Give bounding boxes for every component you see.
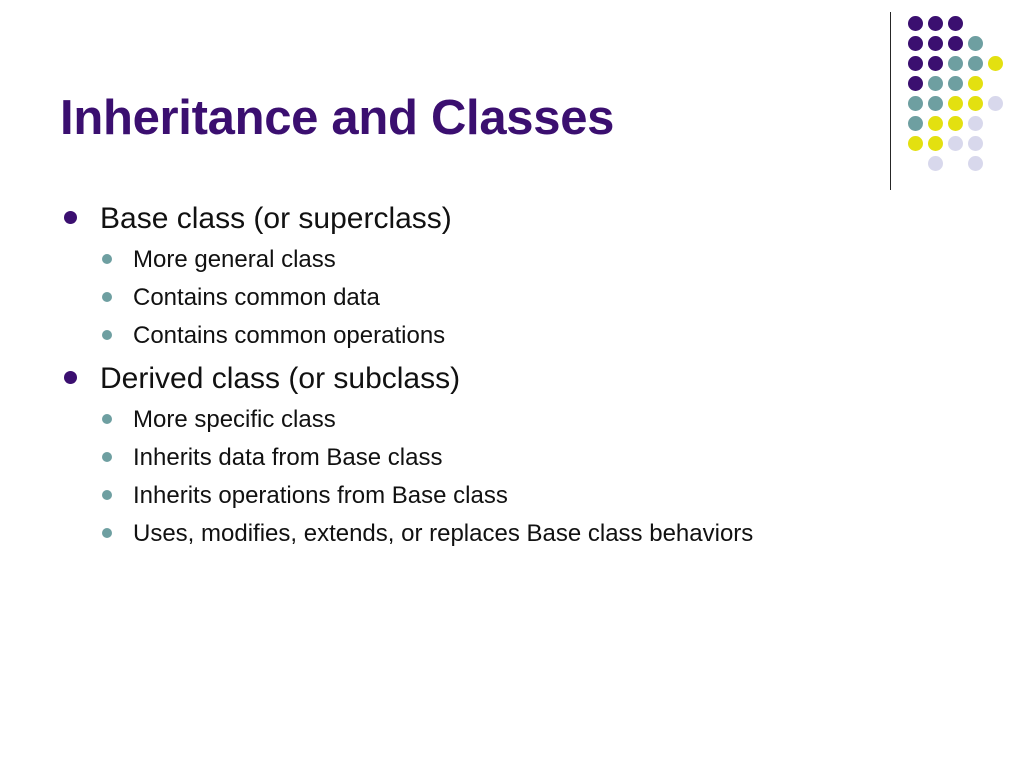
- deco-dot-yellow: [928, 116, 943, 131]
- deco-dot-teal: [948, 76, 963, 91]
- outline-body: Base class (or superclass)More general c…: [56, 196, 986, 554]
- deco-dot-purple: [908, 76, 923, 91]
- deco-dot-purple: [928, 56, 943, 71]
- bullet-row-level-2: More general class: [56, 242, 986, 278]
- deco-dot-yellow: [968, 76, 983, 91]
- deco-dot-purple: [928, 36, 943, 51]
- deco-dot-lavender: [948, 136, 963, 151]
- deco-dot-yellow: [988, 56, 1003, 71]
- filled-circle-bullet: [102, 452, 112, 462]
- filled-circle-bullet: [102, 490, 112, 500]
- deco-dot-lavender: [988, 96, 1003, 111]
- deco-dot-yellow: [948, 116, 963, 131]
- deco-dot-lavender: [968, 156, 983, 171]
- deco-dot-purple: [948, 36, 963, 51]
- deco-dot-yellow: [928, 136, 943, 151]
- deco-dot-teal: [948, 56, 963, 71]
- deco-dot-lavender: [968, 136, 983, 151]
- filled-circle-bullet: [102, 254, 112, 264]
- deco-dot-yellow: [968, 96, 983, 111]
- filled-circle-bullet: [64, 211, 77, 224]
- bullet-row-level-2: More specific class: [56, 402, 986, 438]
- bullet-text: Inherits data from Base class: [133, 440, 442, 476]
- bullet-text: Contains common data: [133, 280, 380, 316]
- filled-circle-bullet: [102, 292, 112, 302]
- filled-circle-bullet: [102, 528, 112, 538]
- deco-dot-purple: [948, 16, 963, 31]
- deco-dot-teal: [928, 76, 943, 91]
- deco-dot-teal: [968, 56, 983, 71]
- deco-dot-yellow: [908, 136, 923, 151]
- bullet-row-level-2: Contains common data: [56, 280, 986, 316]
- deco-dot-teal: [968, 36, 983, 51]
- bullet-row-level-2: Uses, modifies, extends, or replaces Bas…: [56, 516, 986, 552]
- bullet-text: Derived class (or subclass): [100, 356, 460, 401]
- bullet-text: Base class (or superclass): [100, 196, 452, 241]
- vertical-rule-divider: [890, 12, 891, 190]
- deco-dot-lavender: [968, 116, 983, 131]
- bullet-row-level-1: Derived class (or subclass): [56, 356, 986, 401]
- bullet-text: Uses, modifies, extends, or replaces Bas…: [133, 516, 753, 552]
- deco-dot-purple: [908, 16, 923, 31]
- deco-dot-purple: [908, 56, 923, 71]
- bullet-text: Contains common operations: [133, 318, 445, 354]
- bullet-row-level-2: Inherits operations from Base class: [56, 478, 986, 514]
- slide-canvas: Inheritance and Classes Base class (or s…: [0, 0, 1024, 768]
- page-title: Inheritance and Classes: [60, 93, 860, 144]
- deco-dot-teal: [908, 96, 923, 111]
- deco-dot-teal: [928, 96, 943, 111]
- deco-dot-lavender: [928, 156, 943, 171]
- filled-circle-bullet: [102, 330, 112, 340]
- deco-dot-yellow: [948, 96, 963, 111]
- filled-circle-bullet: [102, 414, 112, 424]
- deco-dot-purple: [908, 36, 923, 51]
- bullet-text: Inherits operations from Base class: [133, 478, 508, 514]
- deco-dot-teal: [908, 116, 923, 131]
- bullet-text: More specific class: [133, 402, 336, 438]
- bullet-text: More general class: [133, 242, 336, 278]
- deco-dot-purple: [928, 16, 943, 31]
- bullet-row-level-2: Contains common operations: [56, 318, 986, 354]
- filled-circle-bullet: [64, 371, 77, 384]
- dot-grid-ornament: [886, 8, 1016, 188]
- bullet-row-level-2: Inherits data from Base class: [56, 440, 986, 476]
- bullet-row-level-1: Base class (or superclass): [56, 196, 986, 241]
